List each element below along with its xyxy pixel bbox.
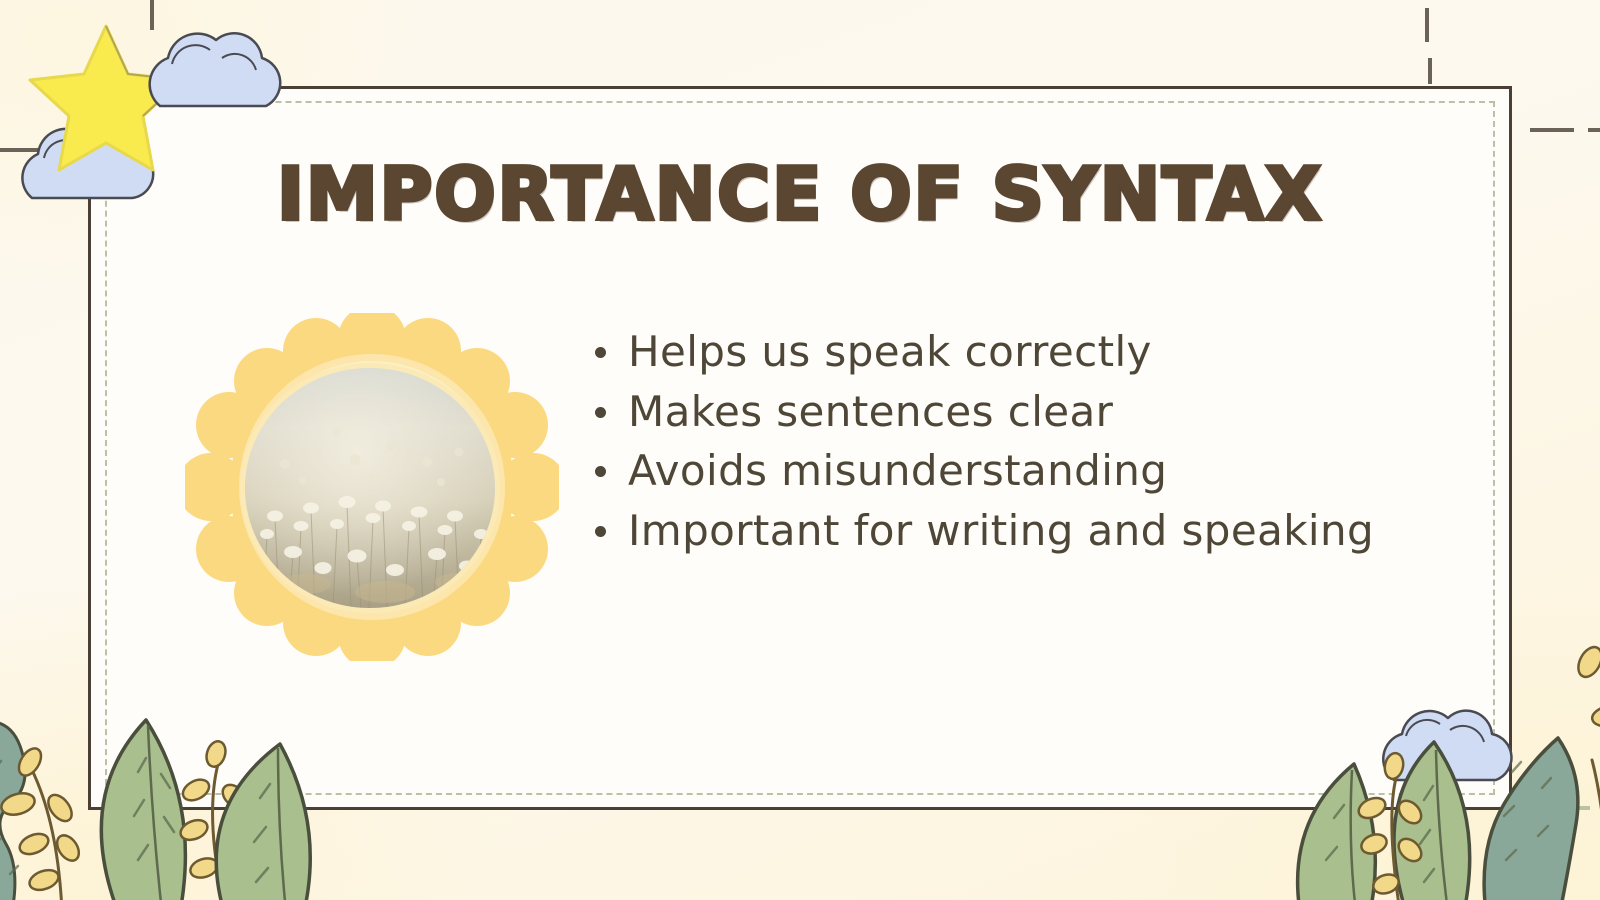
berry-sprig-icon — [1574, 643, 1600, 900]
bullet-text: Avoids misunderstanding — [628, 449, 1167, 493]
leaf-icon — [1298, 764, 1376, 900]
bullet-dot-icon — [595, 347, 606, 358]
bullet-text: Helps us speak correctly — [628, 330, 1152, 374]
stray-dash-top — [1425, 8, 1429, 42]
stray-dash-top-2 — [1428, 58, 1432, 84]
bullet-text: Makes sentences clear — [628, 390, 1113, 434]
list-item: Important for writing and speaking — [595, 509, 1475, 553]
cloud-icon — [150, 33, 281, 106]
bullet-text: Important for writing and speaking — [628, 509, 1374, 553]
bullet-dot-icon — [595, 407, 606, 418]
photo-image — [245, 368, 495, 608]
list-item: Helps us speak correctly — [595, 330, 1475, 374]
list-item: Avoids misunderstanding — [595, 449, 1475, 493]
list-item: Makes sentences clear — [595, 390, 1475, 434]
meadow-flowers-image — [245, 368, 495, 608]
leaf-icon — [216, 744, 310, 900]
slide-canvas: IMPORTANCE OF SYNTAX — [0, 0, 1600, 900]
decoration-top-left — [10, 8, 310, 218]
bullet-dot-icon — [595, 466, 606, 477]
stray-dash-right — [1530, 128, 1574, 132]
leaf-icon — [101, 720, 185, 900]
stray-dash-right-2 — [1588, 128, 1600, 132]
decoration-bottom-right — [1290, 612, 1600, 900]
photo-frame — [185, 313, 559, 661]
bullet-list: Helps us speak correctly Makes sentences… — [595, 330, 1475, 569]
bullet-dot-icon — [595, 526, 606, 537]
decoration-bottom-left — [0, 612, 318, 900]
